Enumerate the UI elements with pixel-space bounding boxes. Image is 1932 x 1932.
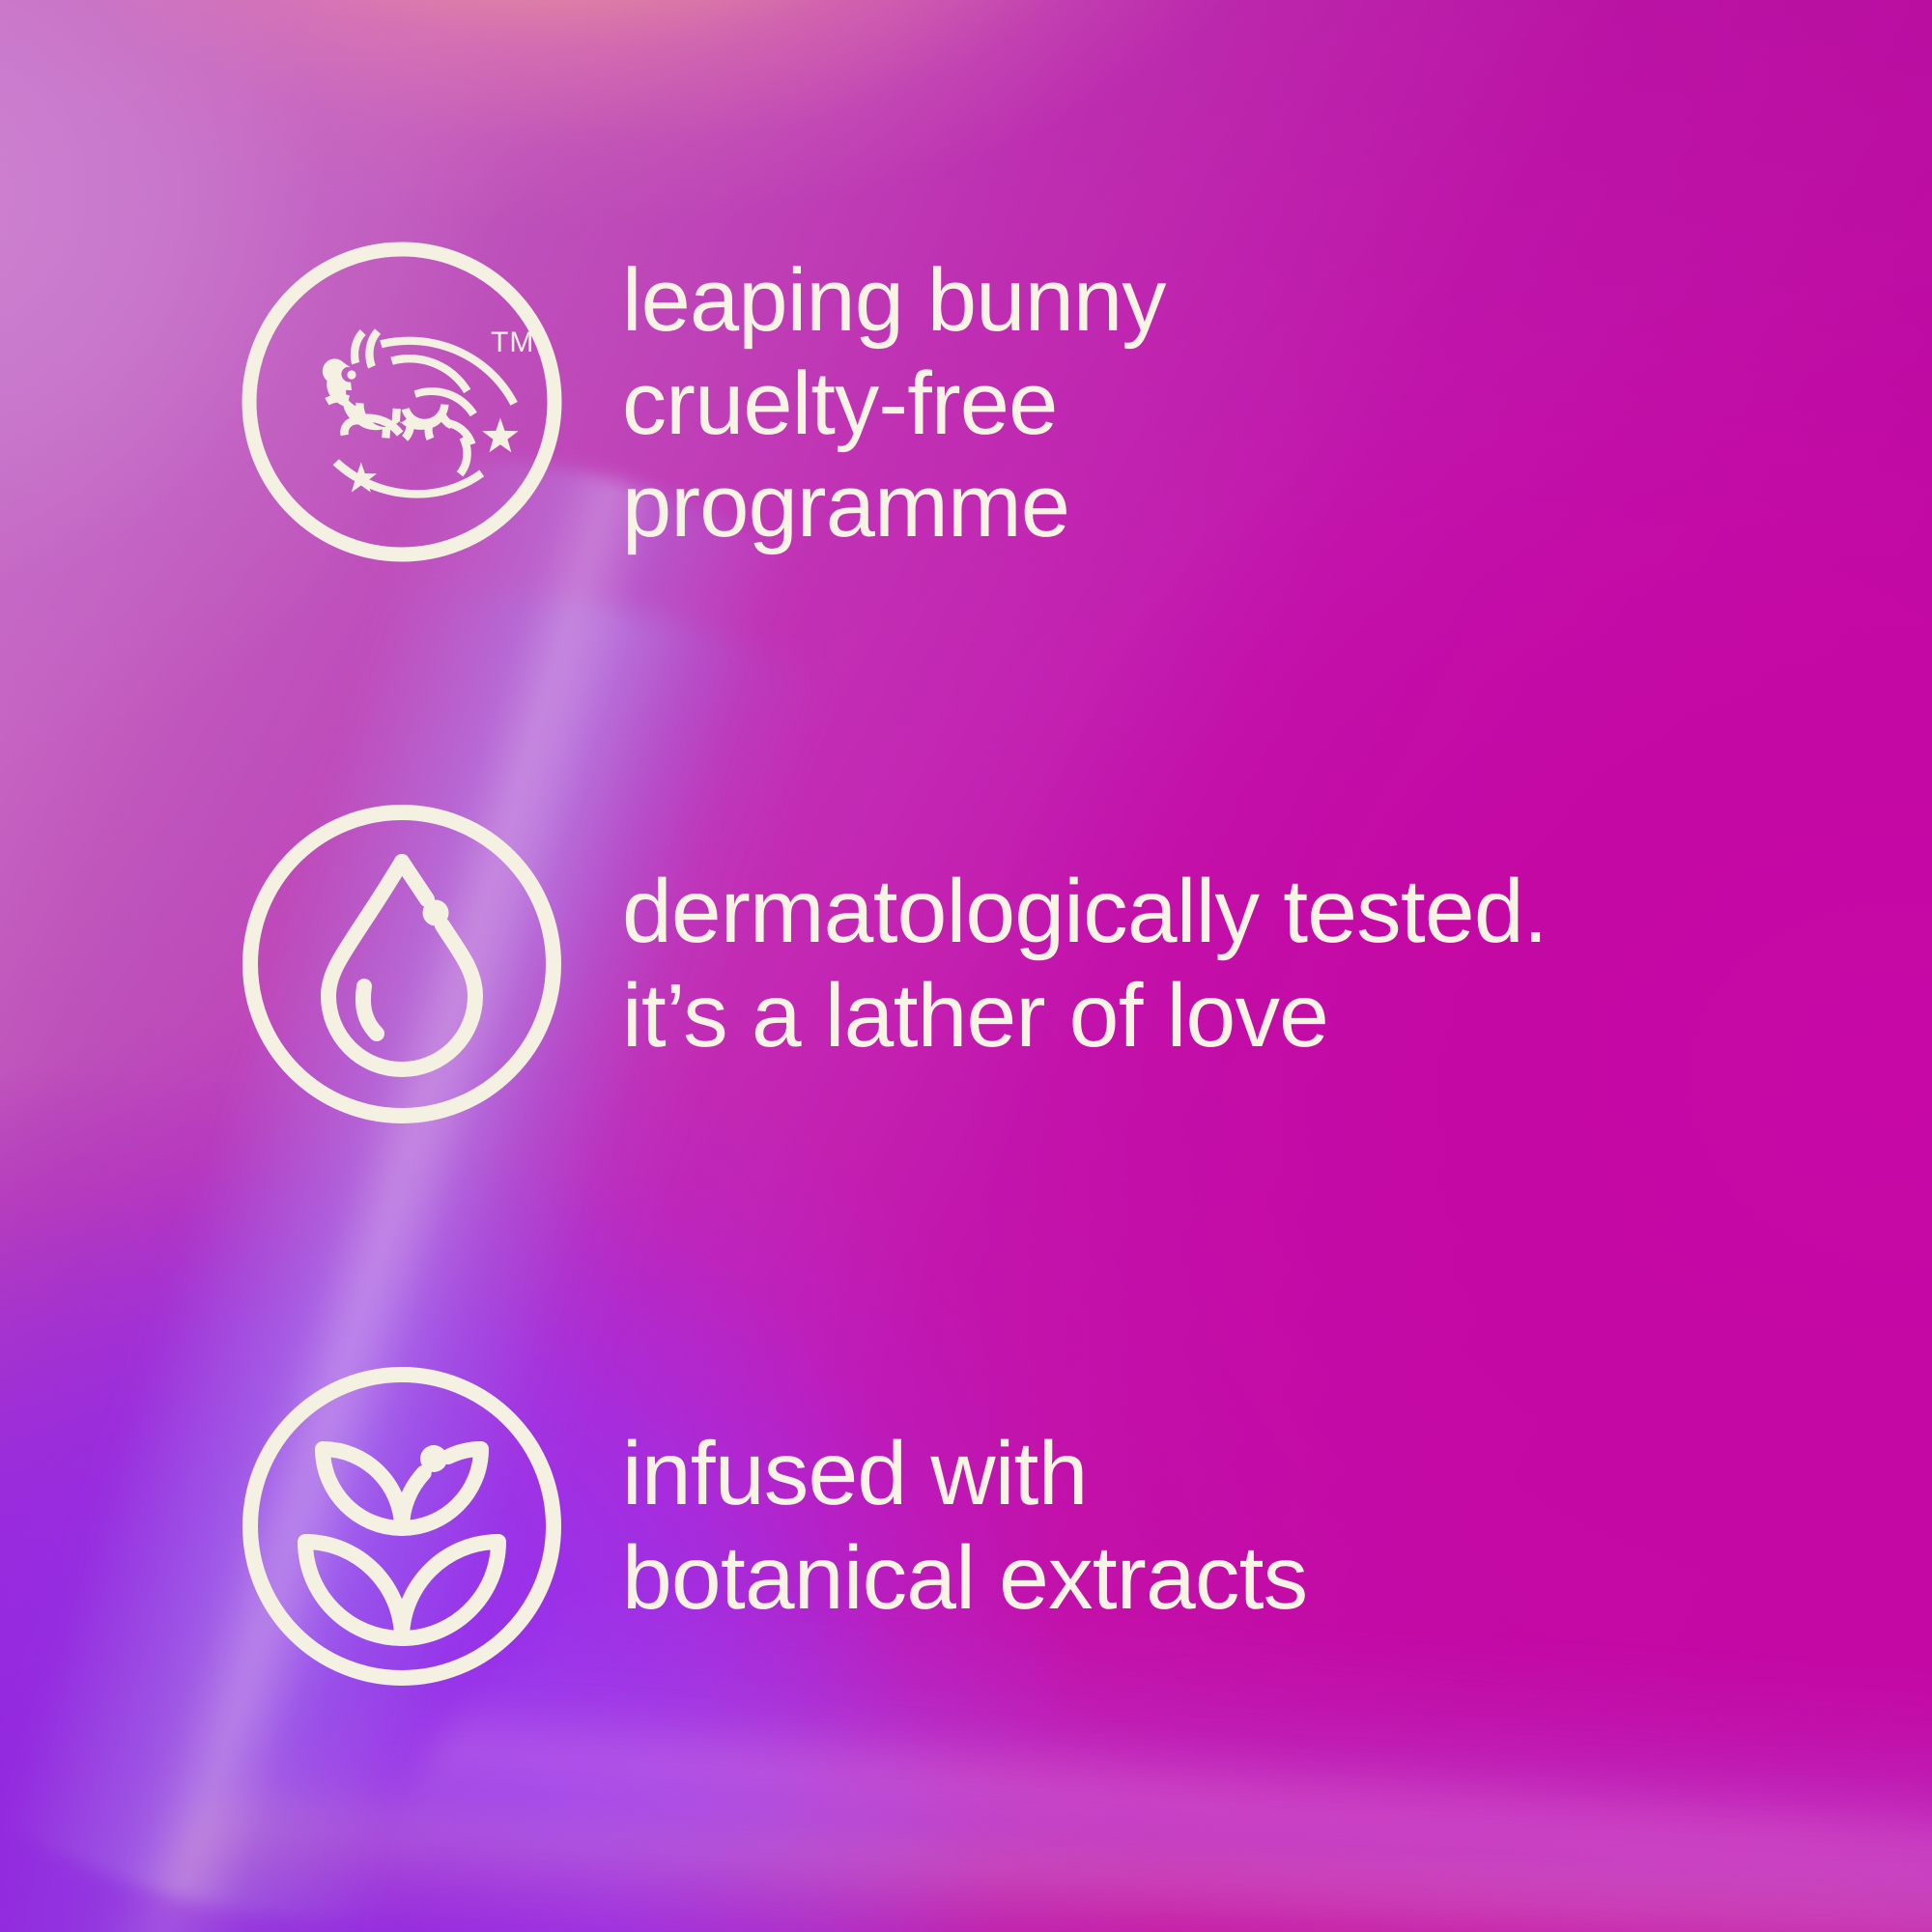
benefits-list: TM leaping bunny cruelty-free programme [0,0,1932,1932]
benefit-item-dermatologically-tested: dermatologically tested. it’s a lather o… [228,790,1548,1138]
benefits-panel: TM leaping bunny cruelty-free programme [0,0,1932,1932]
botanical-leaves-icon [228,1352,576,1700]
leaping-bunny-icon: TM [228,228,576,576]
benefit-text-dermatologically-tested: dermatologically tested. it’s a lather o… [622,860,1548,1068]
benefit-item-leaping-bunny: TM leaping bunny cruelty-free programme [228,228,1166,576]
benefit-text-botanical-extracts: infused with botanical extracts [622,1422,1307,1631]
benefit-item-botanical-extracts: infused with botanical extracts [228,1352,1307,1700]
trademark-symbol: TM [491,327,534,358]
benefit-text-leaping-bunny: leaping bunny cruelty-free programme [622,249,1166,558]
water-droplet-icon [228,790,576,1138]
